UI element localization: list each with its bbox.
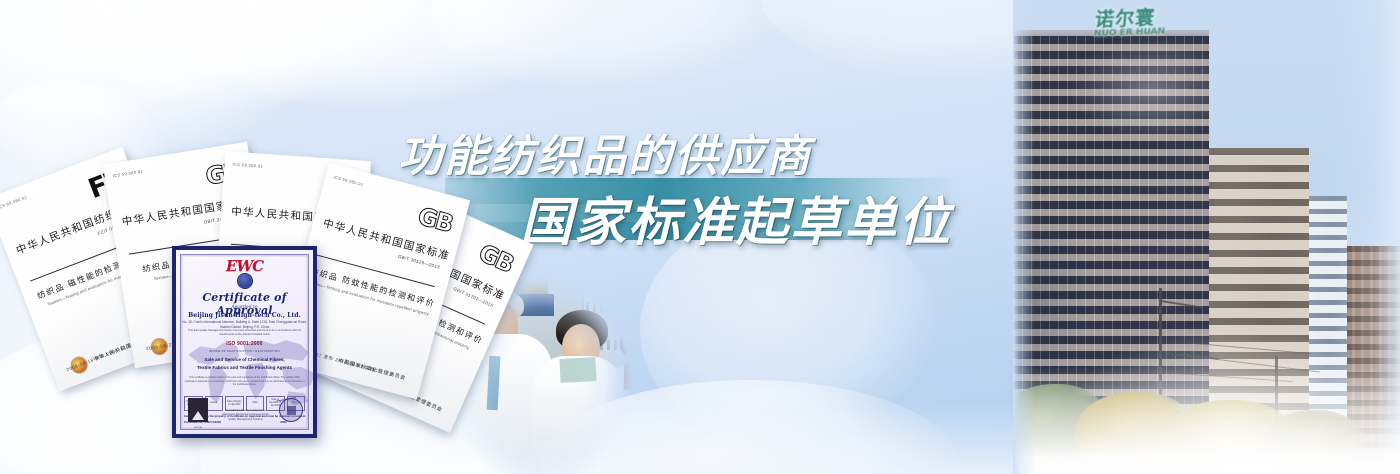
certified-company-name: Beijing Jisun High-tech Co., Ltd. <box>176 312 313 319</box>
certificates-fan: ICS 59.080.01 FZ 中华人民共和国纺织行业标准 FZ/T 0110… <box>0 150 470 474</box>
scope-line-1: Sale and Service of Chemical Fibres, <box>182 356 307 364</box>
hero-banner: 诺尔寰 NUO ER HUAN <box>0 0 1400 474</box>
ukas-accreditation-icon <box>188 398 208 422</box>
rooftop-company-sign: 诺尔寰 NUO ER HUAN <box>1093 3 1167 39</box>
iso-standard: ISO 9001:2000 <box>176 341 313 347</box>
cloud-decoration <box>640 210 940 450</box>
cloud-decoration <box>180 0 600 110</box>
standard-ics-code: ICS 59.080.01 <box>333 174 364 187</box>
ewc-certificate-of-approval: EWC Certificate of Approval Awarded to B… <box>172 246 317 438</box>
standard-ics-code: ICS 59.080.01 <box>0 194 28 210</box>
headline-accent-band <box>445 178 963 240</box>
scope-label: SCOPE OF CERTIFICATION / REGISTRATION <box>176 349 313 353</box>
office-tower-photo: 诺尔寰 NUO ER HUAN <box>1013 0 1400 474</box>
scope-line-2: Textile Fabrics and Textile Finishing Ag… <box>182 364 307 372</box>
standard-mark-gb: GB <box>474 239 516 278</box>
researcher-right-collar <box>624 363 659 390</box>
awarded-to-label: Awarded to <box>176 305 313 310</box>
cloud-decoration <box>60 0 440 110</box>
standard-ics-code: ICS 59.080.01 <box>232 162 263 169</box>
embossed-seal-icon <box>279 398 303 422</box>
cloud-decoration <box>0 0 330 170</box>
standard-mark-gb: GB <box>415 202 455 238</box>
standard-issuer: 中国国家标准化管理委员会 <box>338 357 407 382</box>
standard-ics-code: ICS 59.080.01 <box>112 168 143 178</box>
certificate-clause: That their Quality Management System has… <box>184 329 305 337</box>
ukas-caption: 0000/QM <box>188 427 208 429</box>
cloud-decoration <box>430 0 790 90</box>
researcher-centre-collar <box>559 357 596 383</box>
company-address: No. 18, Cuiefu International Mansion, Bu… <box>182 320 307 329</box>
accreditation-text: Accreditation Member of the Group Attach… <box>220 409 271 422</box>
certification-seal-icon <box>238 274 252 288</box>
ewc-logo: EWC <box>176 257 313 275</box>
